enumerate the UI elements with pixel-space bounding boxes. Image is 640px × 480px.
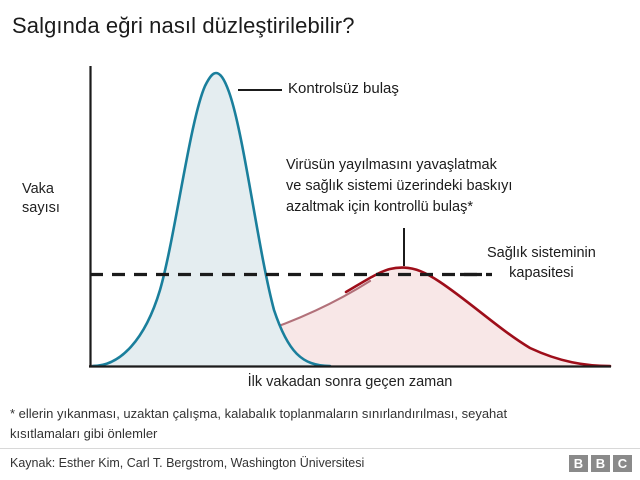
footnote: * ellerin yıkanması, uzaktan çalışma, ka… — [10, 404, 636, 444]
uncontrolled-spread-label: Kontrolsüz bulaş — [288, 80, 399, 97]
footer-divider — [0, 448, 640, 449]
capacity-label: Sağlık sisteminin kapasitesi — [487, 243, 596, 283]
footnote-line-1: * ellerin yıkanması, uzaktan çalışma, ka… — [10, 404, 636, 424]
bbc-logo-letter-3: C — [613, 455, 632, 472]
bbc-logo-letter-2: B — [591, 455, 610, 472]
controlled-spread-label-line-3: azaltmak için kontrollü bulaş* — [286, 197, 512, 218]
controlled-spread-label: Virüsün yayılmasını yavaşlatmak ve sağlı… — [286, 155, 512, 218]
y-axis-label-line-1: Vaka — [22, 180, 92, 199]
controlled-spread-label-line-1: Virüsün yayılmasını yavaşlatmak — [286, 155, 512, 176]
footnote-line-2: kısıtlamaları gibi önlemler — [10, 424, 636, 444]
capacity-label-line-2: kapasitesi — [487, 263, 596, 283]
x-axis-label: İlk vakadan sonra geçen zaman — [90, 374, 610, 390]
capacity-label-line-1: Sağlık sisteminin — [487, 243, 596, 263]
controlled-spread-label-line-2: ve sağlık sistemi üzerindeki baskıyı — [286, 176, 512, 197]
bbc-logo: B B C — [569, 455, 632, 472]
y-axis-label-line-2: sayısı — [22, 199, 92, 218]
infographic-root: Salgında eğri nasıl düzleştirilebilir? V… — [0, 0, 640, 480]
y-axis-label: Vaka sayısı — [22, 180, 92, 218]
bbc-logo-letter-1: B — [569, 455, 588, 472]
source-credit: Kaynak: Esther Kim, Carl T. Bergstrom, W… — [10, 456, 364, 470]
